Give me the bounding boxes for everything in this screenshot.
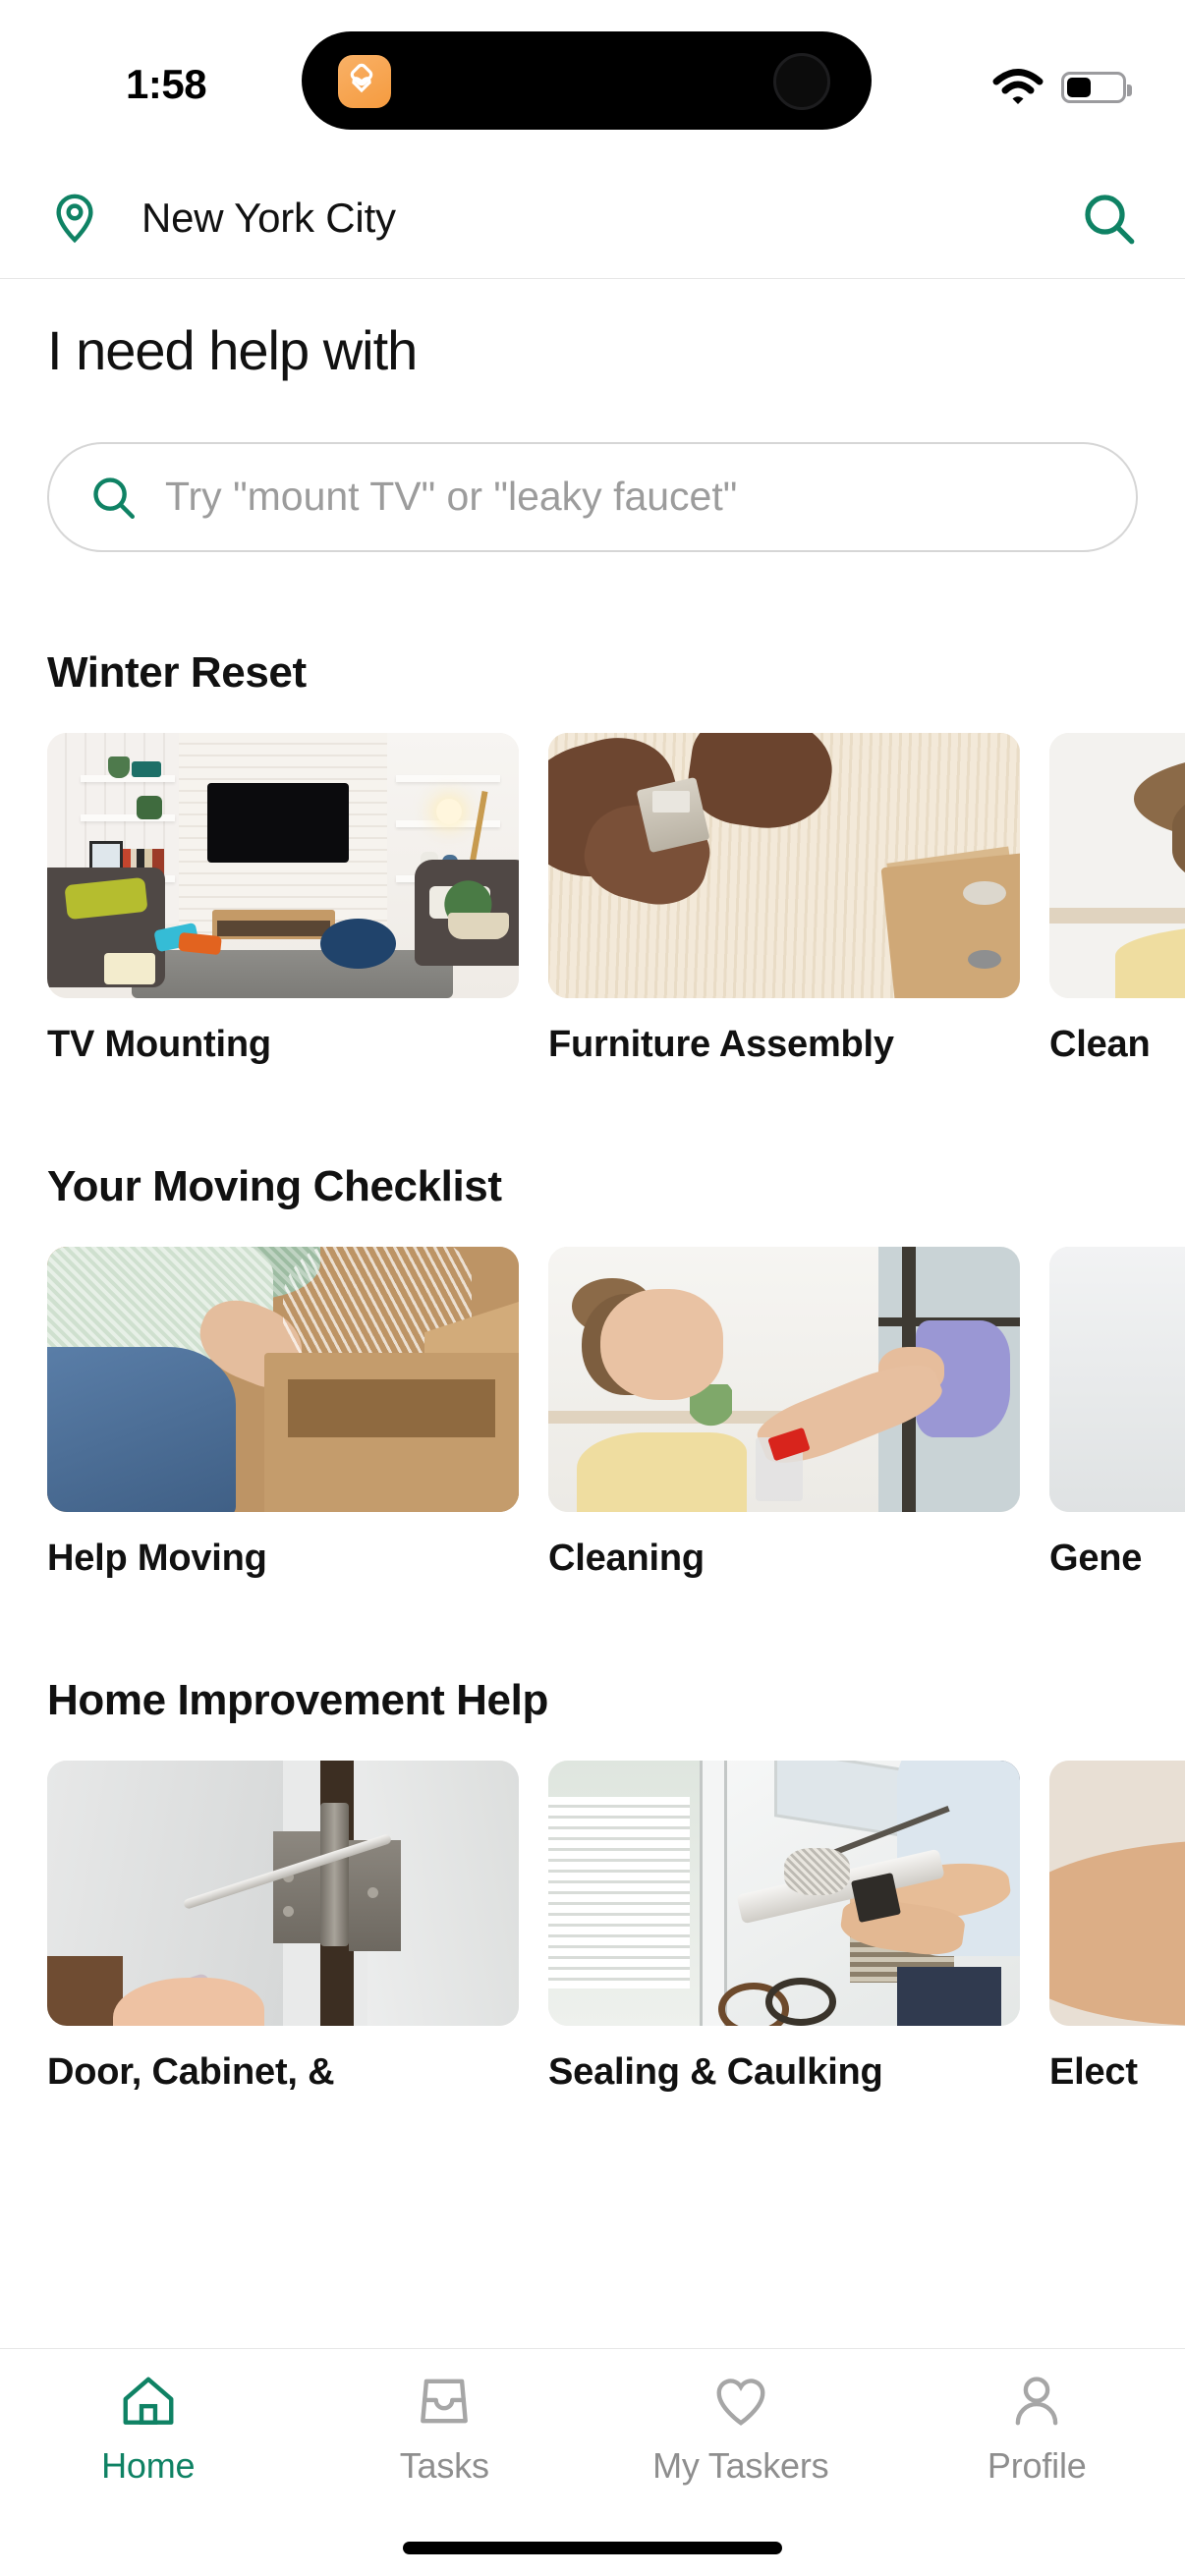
page-title: I need help with <box>0 320 1185 381</box>
wifi-icon <box>992 69 1044 106</box>
section-moving-checklist: Your Moving Checklist Help Moving <box>0 1162 1185 1580</box>
section-winter-reset: Winter Reset <box>0 648 1185 1066</box>
card-carousel[interactable]: TV Mounting Furniture Assembly <box>0 698 1185 1066</box>
card-electrical-partial[interactable]: Elect <box>1049 1761 1185 2094</box>
card-door-cabinet[interactable]: Door, Cabinet, & <box>47 1761 519 2094</box>
main-content: I need help with Try "mount TV" or "leak… <box>0 279 1185 2094</box>
card-label: Elect <box>1049 2051 1185 2094</box>
tab-label: Tasks <box>400 2445 489 2487</box>
bottom-tab-bar: Home Tasks My Taskers Profile <box>0 2348 1185 2576</box>
card-label: TV Mounting <box>47 1024 519 1066</box>
tab-home[interactable]: Home <box>0 2349 297 2576</box>
heart-icon <box>708 2371 773 2432</box>
card-sealing-caulking[interactable]: Sealing & Caulking <box>548 1761 1020 2094</box>
card-image <box>548 1247 1020 1512</box>
card-image <box>47 1761 519 2026</box>
section-title: Winter Reset <box>0 648 1185 698</box>
card-image <box>1049 1761 1185 2026</box>
search-icon <box>88 473 138 522</box>
card-furniture-assembly[interactable]: Furniture Assembly <box>548 733 1020 1066</box>
card-label: Furniture Assembly <box>548 1024 1020 1066</box>
card-image <box>548 733 1020 998</box>
card-image <box>47 1247 519 1512</box>
section-home-improvement: Home Improvement Help Door, Cabinet, & <box>0 1676 1185 2094</box>
section-title: Your Moving Checklist <box>0 1162 1185 1211</box>
card-general-handyman-partial[interactable]: Gene <box>1049 1247 1185 1580</box>
card-help-moving[interactable]: Help Moving <box>47 1247 519 1580</box>
card-tv-mounting[interactable]: TV Mounting <box>47 733 519 1066</box>
card-label: Cleaning <box>548 1538 1020 1580</box>
tab-label: Profile <box>987 2445 1087 2487</box>
status-time: 1:58 <box>126 61 206 108</box>
card-image <box>1049 733 1185 998</box>
search-icon[interactable] <box>1079 189 1138 248</box>
dynamic-island <box>302 31 872 130</box>
tab-label: My Taskers <box>652 2445 828 2487</box>
card-carousel[interactable]: Help Moving Cleaning <box>0 1211 1185 1580</box>
card-label: Help Moving <box>47 1538 519 1580</box>
taskrabbit-logo-icon <box>338 55 391 108</box>
location-pin-icon[interactable] <box>47 191 102 246</box>
section-title: Home Improvement Help <box>0 1676 1185 1725</box>
card-label: Gene <box>1049 1538 1185 1580</box>
person-icon <box>1004 2371 1069 2432</box>
tab-label: Home <box>101 2445 195 2487</box>
card-cleaning[interactable]: Cleaning <box>548 1247 1020 1580</box>
battery-icon <box>1061 72 1126 103</box>
card-image <box>548 1761 1020 2026</box>
card-label: Clean <box>1049 1024 1185 1066</box>
tray-icon <box>412 2371 477 2432</box>
location-city-label[interactable]: New York City <box>141 195 396 242</box>
front-camera <box>773 53 830 110</box>
search-input[interactable]: Try "mount TV" or "leaky faucet" <box>47 442 1138 552</box>
home-indicator[interactable] <box>403 2542 782 2554</box>
status-bar: 1:58 <box>0 0 1185 157</box>
card-carousel[interactable]: Door, Cabinet, & Sealing & Caulki <box>0 1725 1185 2094</box>
card-image <box>47 733 519 998</box>
house-icon <box>116 2371 181 2432</box>
location-header: New York City <box>0 157 1185 279</box>
card-image <box>1049 1247 1185 1512</box>
status-indicators <box>992 69 1126 106</box>
tab-profile[interactable]: Profile <box>889 2349 1185 2576</box>
card-label: Sealing & Caulking <box>548 2051 1020 2094</box>
card-label: Door, Cabinet, & <box>47 2051 519 2094</box>
search-placeholder: Try "mount TV" or "leaky faucet" <box>165 474 737 520</box>
battery-fill <box>1067 78 1091 97</box>
card-cleaning-partial[interactable]: Clean <box>1049 733 1185 1066</box>
